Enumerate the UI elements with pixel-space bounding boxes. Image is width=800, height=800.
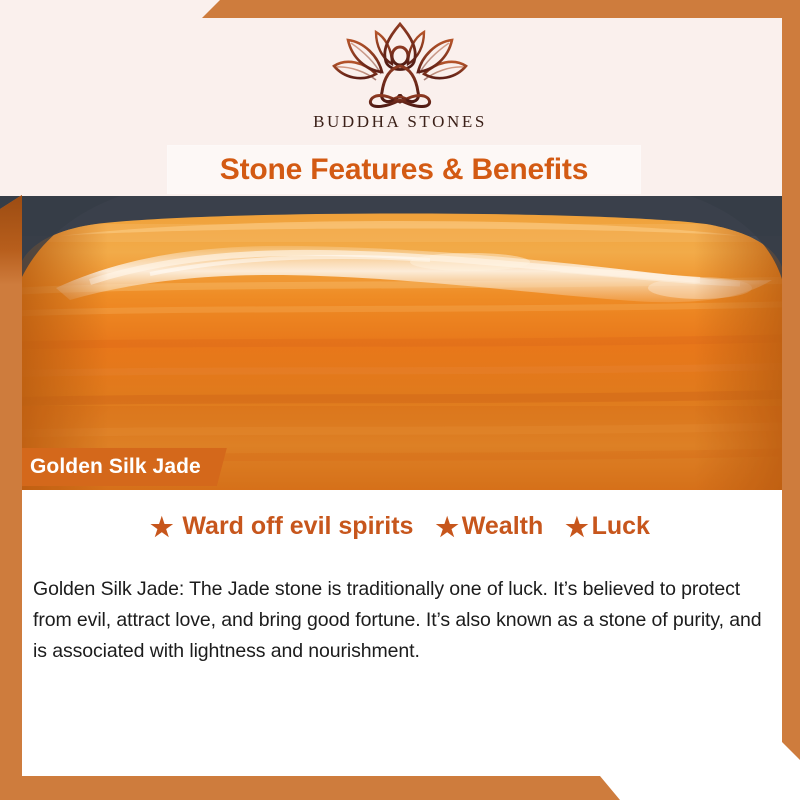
star-icon: ★ [565, 514, 588, 540]
star-icon: ★ [435, 514, 458, 540]
brand-name: BUDDHA STONES [313, 112, 487, 132]
frame-left-accent [0, 195, 22, 800]
card-body: ★ Ward off evil spirits ★ Wealth ★ Luck … [0, 490, 800, 800]
page-title: Stone Features & Benefits [220, 153, 588, 187]
benefit-label-2: Wealth [462, 512, 544, 541]
stone-description: Golden Silk Jade: The Jade stone is trad… [33, 574, 775, 667]
stone-name-text: Golden Silk Jade [30, 455, 201, 479]
benefit-label-1: Ward off evil spirits [182, 512, 413, 541]
benefits-list: ★ Ward off evil spirits ★ Wealth ★ Luck [0, 512, 800, 541]
lotus-meditation-icon [324, 22, 476, 108]
brand-logo: BUDDHA STONES [0, 22, 800, 132]
frame-left-shadow-accent [0, 195, 22, 285]
benefit-item-1: ★ Ward off evil spirits [150, 512, 413, 541]
benefit-item-3: ★ Luck [565, 512, 650, 541]
card-header: BUDDHA STONES Stone Features & Benefits [0, 0, 800, 196]
frame-right-accent [782, 0, 800, 800]
benefit-label-3: Luck [592, 512, 650, 541]
golden-silk-jade-stone-photo [0, 196, 800, 490]
page-title-box: Stone Features & Benefits [168, 146, 640, 193]
star-icon: ★ [150, 514, 173, 540]
stone-name-label: Golden Silk Jade [0, 448, 227, 486]
stone-feature-card: BUDDHA STONES Stone Features & Benefits [0, 0, 800, 800]
benefit-item-2: ★ Wealth [435, 512, 543, 541]
